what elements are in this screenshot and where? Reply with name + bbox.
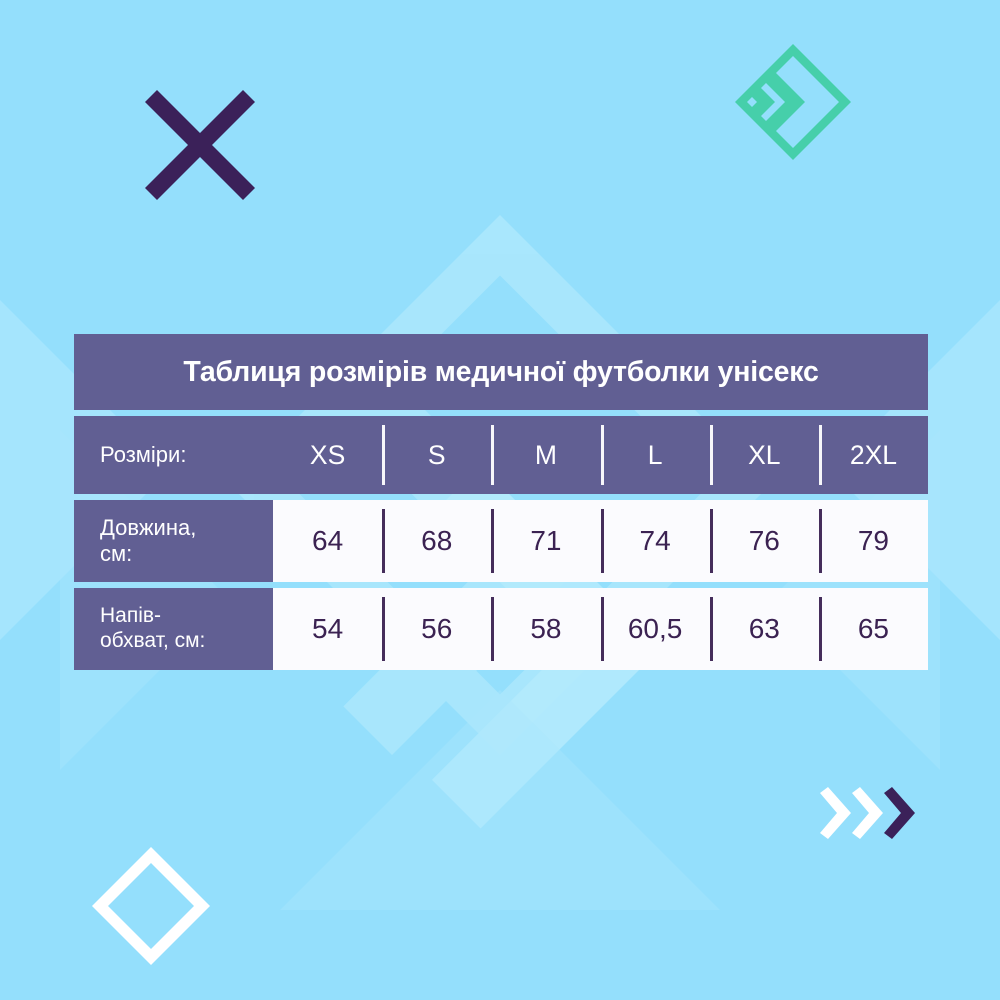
table-row: Довжина, см: 64 68 71 74 76 79 bbox=[74, 500, 928, 582]
size-chart-table: Таблиця розмірів медичної футболки унісе… bbox=[74, 334, 928, 670]
cell-length-xl: 76 bbox=[710, 500, 819, 582]
triple-chevron-right-icon bbox=[818, 787, 918, 839]
cell-halfchest-s: 56 bbox=[382, 588, 491, 670]
row-label-length: Довжина, см: bbox=[74, 500, 273, 582]
row-label-length-text: Довжина, см: bbox=[100, 515, 196, 566]
header-cell-2xl: 2XL bbox=[819, 416, 928, 494]
cell-length-m: 71 bbox=[491, 500, 600, 582]
row-label-halfchest: Напів- обхват, см: bbox=[74, 588, 273, 670]
cell-halfchest-xs: 54 bbox=[273, 588, 382, 670]
row-values-length: 64 68 71 74 76 79 bbox=[273, 500, 928, 582]
header-cell-xl: XL bbox=[710, 416, 819, 494]
cell-halfchest-l: 60,5 bbox=[601, 588, 710, 670]
table-header-row: Розміри: XS S M L XL 2XL bbox=[74, 416, 928, 494]
cell-halfchest-xl: 63 bbox=[710, 588, 819, 670]
header-label-cell: Розміри: bbox=[74, 416, 273, 494]
row-label-halfchest-line2: обхват, см: bbox=[100, 629, 205, 652]
table-row: Напів- обхват, см: 54 56 58 60,5 63 65 bbox=[74, 588, 928, 670]
diamond-outline-icon bbox=[90, 845, 212, 967]
poster-canvas: Таблиця розмірів медичної футболки унісе… bbox=[0, 0, 1000, 1000]
header-label-text: Розміри: bbox=[100, 442, 186, 468]
header-cell-s: S bbox=[382, 416, 491, 494]
x-mark-icon bbox=[145, 90, 255, 200]
cell-length-2xl: 79 bbox=[819, 500, 928, 582]
table-title-bar: Таблиця розмірів медичної футболки унісе… bbox=[74, 334, 928, 410]
row-label-length-line2: см: bbox=[100, 541, 132, 566]
header-cell-l: L bbox=[601, 416, 710, 494]
row-label-length-line1: Довжина, bbox=[100, 515, 196, 540]
cell-halfchest-2xl: 65 bbox=[819, 588, 928, 670]
row-label-halfchest-text: Напів- обхват, см: bbox=[100, 604, 205, 653]
header-size-cells: XS S M L XL 2XL bbox=[273, 416, 928, 494]
row-label-halfchest-line1: Напів- bbox=[100, 604, 161, 627]
header-cell-xs: XS bbox=[273, 416, 382, 494]
cell-length-xs: 64 bbox=[273, 500, 382, 582]
cell-length-s: 68 bbox=[382, 500, 491, 582]
row-values-halfchest: 54 56 58 60,5 63 65 bbox=[273, 588, 928, 670]
logo-diamond-chevron-icon bbox=[733, 42, 853, 162]
page-title: Таблиця розмірів медичної футболки унісе… bbox=[183, 356, 818, 389]
cell-halfchest-m: 58 bbox=[491, 588, 600, 670]
header-cell-m: M bbox=[491, 416, 600, 494]
cell-length-l: 74 bbox=[601, 500, 710, 582]
